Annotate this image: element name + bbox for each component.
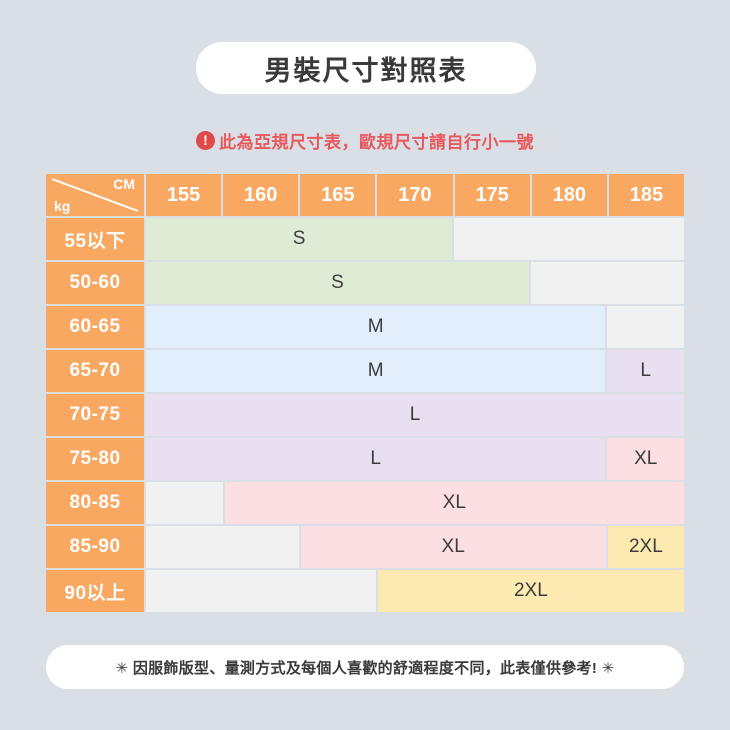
empty-cell bbox=[146, 570, 376, 612]
row-cells: XL bbox=[146, 482, 684, 524]
row-header-60-65: 60-65 bbox=[46, 306, 144, 348]
row-header-65-70: 65-70 bbox=[46, 350, 144, 392]
size-chart-page: 男裝尺寸對照表 ! 此為亞規尺寸表，歐規尺寸請自行小一號 CM kg 15516… bbox=[0, 0, 730, 730]
column-header-170: 170 bbox=[377, 174, 452, 216]
column-header-185: 185 bbox=[609, 174, 684, 216]
table-row: 75-80LXL bbox=[46, 438, 684, 480]
size-cell-S: S bbox=[146, 262, 529, 304]
table-row: 80-85XL bbox=[46, 482, 684, 524]
row-header-50-60: 50-60 bbox=[46, 262, 144, 304]
row-header-70-75: 70-75 bbox=[46, 394, 144, 436]
column-headers: 155160165170175180185 bbox=[146, 174, 684, 216]
row-header-55以下: 55以下 bbox=[46, 218, 144, 260]
row-cells: ML bbox=[146, 350, 684, 392]
size-cell-XL: XL bbox=[225, 482, 684, 524]
size-cell-XL: XL bbox=[301, 526, 606, 568]
empty-cell bbox=[607, 306, 684, 348]
footer-note: ✳ 因服飾版型、量測方式及每個人喜歡的舒適程度不同，此表僅供參考! ✳ bbox=[116, 657, 615, 678]
size-cell-L: L bbox=[146, 394, 684, 436]
size-cell-2XL: 2XL bbox=[608, 526, 684, 568]
row-header-80-85: 80-85 bbox=[46, 482, 144, 524]
table-row: 70-75L bbox=[46, 394, 684, 436]
row-cells: 2XL bbox=[146, 570, 684, 612]
size-cell-XL: XL bbox=[607, 438, 684, 480]
table-row: 50-60S bbox=[46, 262, 684, 304]
row-header-90以上: 90以上 bbox=[46, 570, 144, 612]
row-cells: S bbox=[146, 262, 684, 304]
corner-cell: CM kg bbox=[46, 174, 144, 216]
exclamation-circle-icon: ! bbox=[196, 131, 215, 150]
row-header-85-90: 85-90 bbox=[46, 526, 144, 568]
empty-cell bbox=[146, 526, 299, 568]
column-header-165: 165 bbox=[300, 174, 375, 216]
column-header-160: 160 bbox=[223, 174, 298, 216]
size-cell-M: M bbox=[146, 350, 605, 392]
notice-row: ! 此為亞規尺寸表，歐規尺寸請自行小一號 bbox=[0, 128, 730, 153]
column-header-155: 155 bbox=[146, 174, 221, 216]
footer-note-pill: ✳ 因服飾版型、量測方式及每個人喜歡的舒適程度不同，此表僅供參考! ✳ bbox=[46, 645, 684, 689]
row-cells: S bbox=[146, 218, 684, 260]
row-cells: LXL bbox=[146, 438, 684, 480]
table-row: 85-90XL2XL bbox=[46, 526, 684, 568]
row-cells: M bbox=[146, 306, 684, 348]
row-cells: XL2XL bbox=[146, 526, 684, 568]
table-row: 90以上2XL bbox=[46, 570, 684, 612]
row-header-75-80: 75-80 bbox=[46, 438, 144, 480]
size-table: CM kg 155160165170175180185 55以下S50-60S6… bbox=[46, 174, 684, 612]
notice-text: 此為亞規尺寸表，歐規尺寸請自行小一號 bbox=[219, 128, 534, 153]
corner-label-cm: CM bbox=[113, 176, 135, 192]
page-title: 男裝尺寸對照表 bbox=[265, 49, 468, 88]
empty-cell bbox=[146, 482, 223, 524]
corner-label-kg: kg bbox=[54, 198, 70, 214]
table-row: 60-65M bbox=[46, 306, 684, 348]
empty-cell bbox=[454, 218, 684, 260]
table-row: 65-70ML bbox=[46, 350, 684, 392]
page-title-pill: 男裝尺寸對照表 bbox=[196, 42, 536, 94]
size-cell-L: L bbox=[146, 438, 605, 480]
column-header-180: 180 bbox=[532, 174, 607, 216]
row-cells: L bbox=[146, 394, 684, 436]
table-header-row: CM kg 155160165170175180185 bbox=[46, 174, 684, 216]
size-cell-2XL: 2XL bbox=[378, 570, 684, 612]
table-row: 55以下S bbox=[46, 218, 684, 260]
empty-cell bbox=[531, 262, 684, 304]
size-cell-S: S bbox=[146, 218, 452, 260]
size-cell-M: M bbox=[146, 306, 605, 348]
size-cell-L: L bbox=[607, 350, 684, 392]
column-header-175: 175 bbox=[455, 174, 530, 216]
table-body: 55以下S50-60S60-65M65-70ML70-75L75-80LXL80… bbox=[46, 218, 684, 612]
